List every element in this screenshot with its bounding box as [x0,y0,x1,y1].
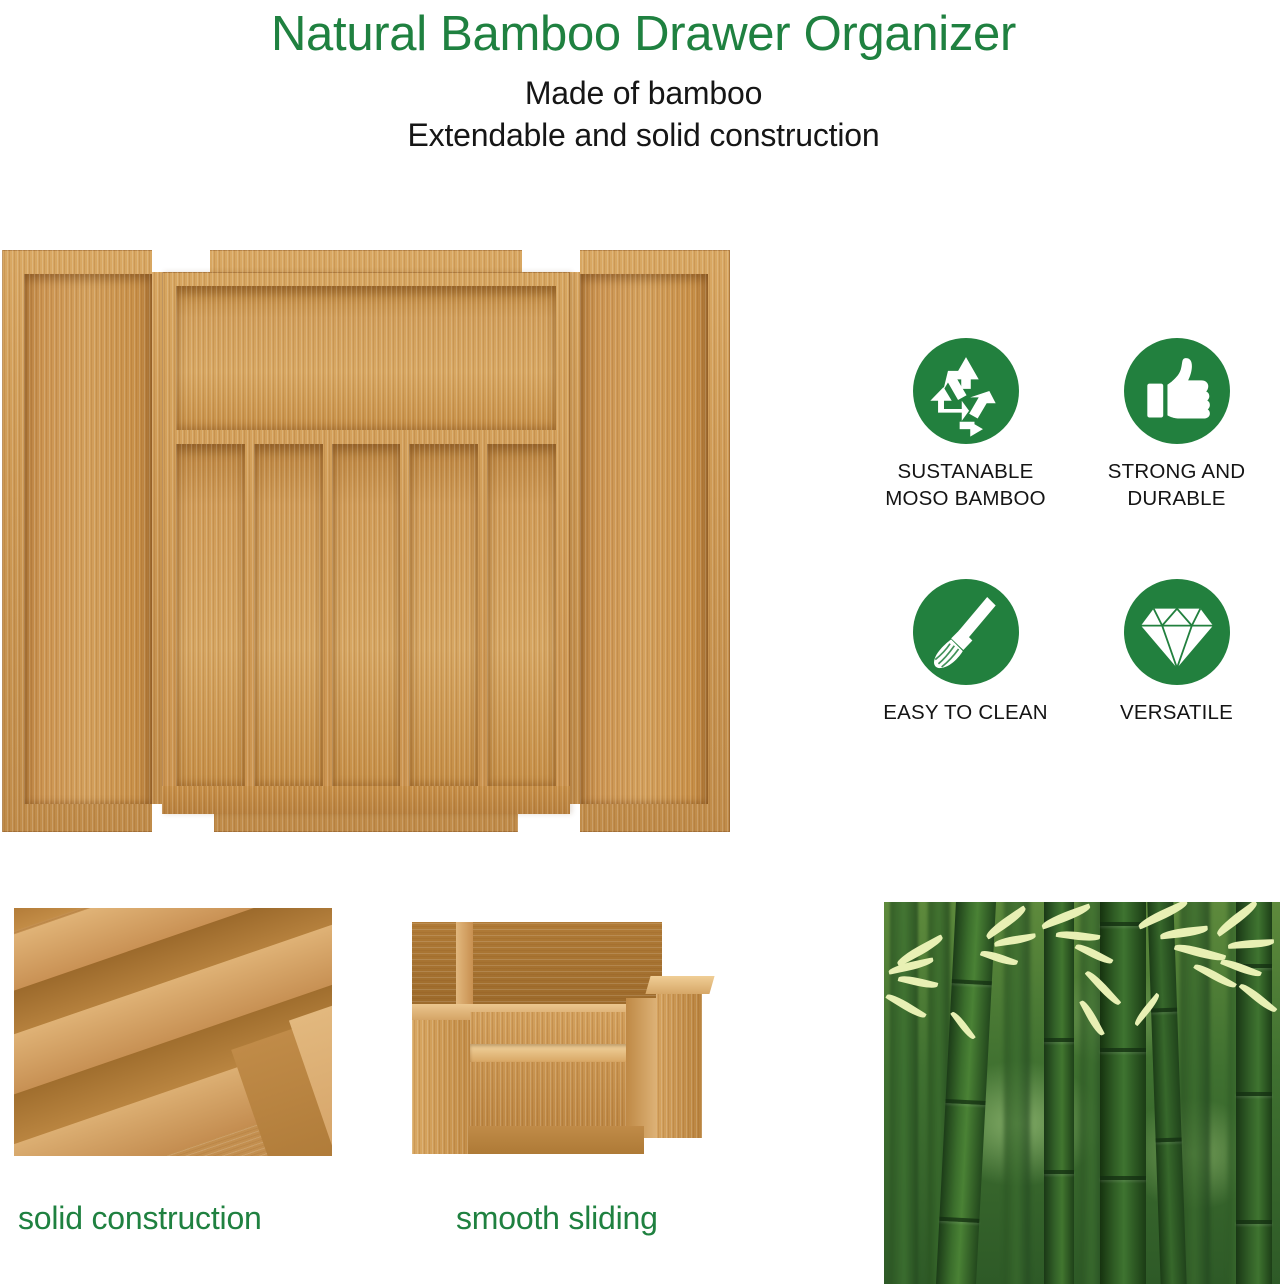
subtitle-line-2: Extendable and solid construction [0,114,1287,156]
wood-grain-texture [412,922,662,1008]
utensil-slot [254,444,323,786]
wood-grain-texture [409,444,478,786]
wood-grain-texture [176,286,556,430]
culm-node [1151,1008,1177,1013]
brush-icon [913,579,1019,685]
rail-tab [626,998,660,1138]
large-top-compartment [176,286,556,430]
wood-grain-texture [332,444,401,786]
culm-node [1100,1176,1146,1180]
utensil-slot [487,444,556,786]
utensil-slot [332,444,401,786]
product-hero-image [2,250,730,832]
cross-divider [456,922,473,1008]
culm-node [1236,1220,1272,1224]
culm-node [952,979,992,985]
page-title: Natural Bamboo Drawer Organizer [0,0,1287,62]
culm-node [1044,1038,1074,1042]
feature-grid: SUSTANABLE MOSO BAMBOO STRONG AND DURABL… [865,338,1277,758]
feature-strong-and-durable: STRONG AND DURABLE [1076,338,1277,545]
wood-grain-texture [24,274,152,804]
recycle-icon [913,338,1019,444]
feature-label: EASY TO CLEAN [865,699,1066,726]
diamond-icon [1124,579,1230,685]
outer-side-wall [656,990,702,1138]
utensil-slot-row [176,444,556,786]
culm-node [1236,1092,1272,1096]
wood-grain-texture [176,444,245,786]
organizer-inner-sliding-tray [162,272,570,814]
thumbs-up-icon [1124,338,1230,444]
organizer-outer-frame [2,250,730,832]
culm-node [1044,1170,1074,1174]
inner-tray-front-lip [162,786,570,814]
wood-grain-texture [254,444,323,786]
utensil-slot [176,444,245,786]
feature-label: VERSATILE [1076,699,1277,726]
bottom-foot [468,1126,644,1154]
wood-grain-texture [470,1012,634,1128]
wood-grain-texture [162,786,570,814]
feature-label: STRONG AND DURABLE [1076,458,1277,512]
side-compartment-right [580,274,708,804]
culm-node [945,1099,985,1105]
feature-versatile: VERSATILE [1076,579,1277,759]
feature-sustainable-moso-bamboo: SUSTANABLE MOSO BAMBOO [865,338,1066,545]
feature-easy-to-clean: EASY TO CLEAN [865,579,1066,759]
front-wall-with-rail [470,1012,634,1128]
bamboo-culm [1236,902,1272,1284]
detail-photo-smooth-sliding [404,908,722,1156]
subtitle-line-1: Made of bamboo [0,62,1287,114]
detail-caption-1: solid construction [18,1200,262,1237]
detail-caption-2: smooth sliding [456,1200,658,1237]
detail-photo-solid-construction [14,908,332,1156]
front-wall-left [412,1020,472,1154]
frame-notch-top-left [152,250,210,272]
bamboo-culm [1044,902,1074,1284]
outer-wall-top-edge [645,976,714,994]
wood-grain-texture [487,444,556,786]
sliding-rail-groove [470,1044,634,1062]
culm-node [1100,1048,1146,1052]
wood-grain-texture [656,990,702,1138]
utensil-slot [409,444,478,786]
feature-label: SUSTANABLE MOSO BAMBOO [865,458,1066,512]
wood-grain-texture [580,274,708,804]
wood-grain-texture [412,1020,472,1154]
culm-node [939,1217,979,1223]
bamboo-forest-image [884,902,1280,1284]
bamboo-corner-assembly [404,908,722,1156]
header: Natural Bamboo Drawer Organizer Made of … [0,0,1287,175]
culm-node [1156,1138,1182,1143]
frame-notch-top-right [522,250,580,272]
side-compartment-left [24,274,152,804]
tray-interior-floor [412,922,662,1008]
